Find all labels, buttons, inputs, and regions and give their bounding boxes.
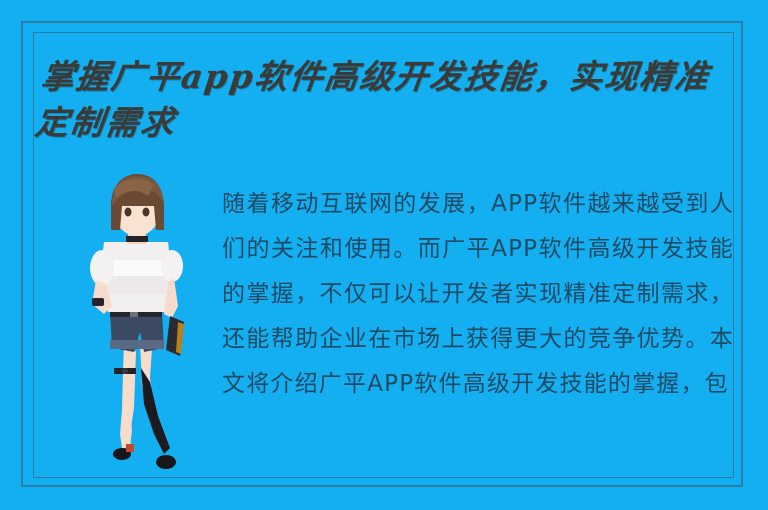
poster-canvas: 掌握广平app软件高级开发技能，实现精准定制需求: [0, 0, 768, 510]
anime-girl-illustration: [78, 172, 198, 478]
poster-body-text: 随着移动互联网的发展，APP软件越来越受到人们的关注和使用。而广平APP软件高级…: [222, 182, 734, 452]
poster-title: 掌握广平app软件高级开发技能，实现精准定制需求: [33, 54, 734, 146]
